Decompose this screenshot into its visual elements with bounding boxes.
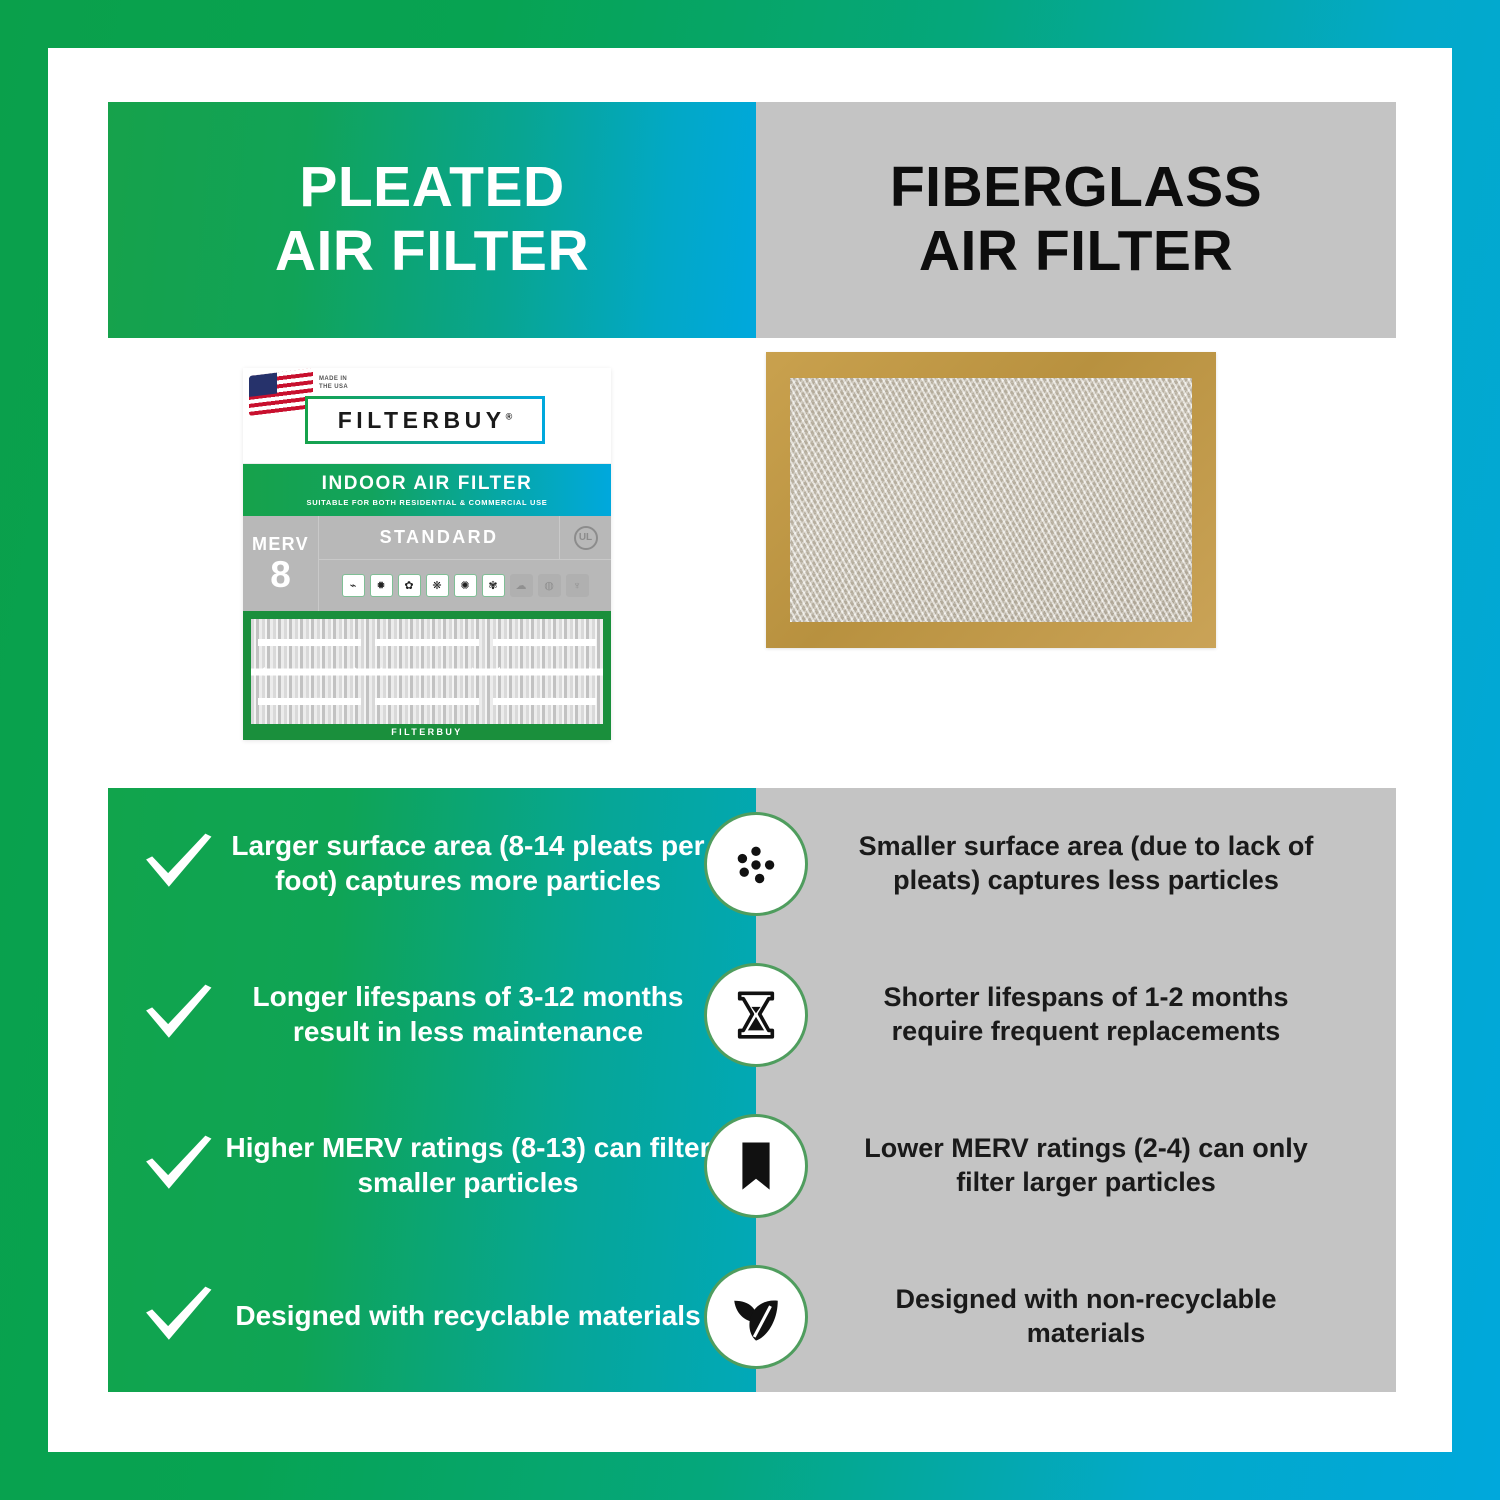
pleat-texture	[251, 619, 603, 724]
row-left-text: Longer lifespans of 3-12 months result i…	[216, 980, 714, 1048]
comparison-row: Designed with recyclable materials Desig…	[108, 1241, 1396, 1392]
pleated-product-cell: MADE IN THE USA FILTERBUY® INDOOR AIR FI…	[108, 338, 756, 768]
white-canvas: PLEATED AIR FILTER FIBERGLASS AIR FILTER	[48, 48, 1452, 1452]
row-left-text: Higher MERV ratings (8-13) can filter sm…	[216, 1131, 714, 1199]
pollen-particles-icon: ✹	[370, 574, 393, 597]
bacteria-icon: ✺	[454, 574, 477, 597]
row-left-text: Larger surface area (8-14 pleats per foo…	[216, 829, 714, 897]
header-pleated-line2: AIR FILTER	[275, 220, 589, 284]
band-sub-label: SUITABLE FOR BOTH RESIDENTIAL & COMMERCI…	[307, 498, 548, 507]
header-row: PLEATED AIR FILTER FIBERGLASS AIR FILTER	[108, 102, 1396, 338]
row-right-text: Shorter lifespans of 1-2 months require …	[834, 981, 1338, 1048]
virus-icon: ◍	[538, 574, 561, 597]
fiberglass-filter-image	[766, 352, 1216, 648]
comparison-row: Longer lifespans of 3-12 months result i…	[108, 939, 1396, 1090]
ul-certification-mark: UL	[559, 516, 611, 559]
row-left-content: Designed with recyclable materials	[108, 1241, 756, 1392]
package-footer-brand: FILTERBUY	[243, 724, 611, 740]
row-left-content: Longer lifespans of 3-12 months result i…	[108, 939, 756, 1090]
merv-label: MERV	[252, 534, 309, 555]
odor-icon: ♆	[566, 574, 589, 597]
pet-dander-icon: ✾	[482, 574, 505, 597]
pleated-media-photo: FILTERBUY	[243, 611, 611, 740]
made-in-line2: THE USA	[319, 383, 348, 391]
checkmark-icon	[140, 1279, 216, 1355]
band-main-label: INDOOR AIR FILTER	[322, 473, 533, 495]
support-wire-grid	[251, 635, 603, 709]
pollen-icon: ✿	[398, 574, 421, 597]
merv-value: 8	[270, 556, 291, 593]
checkmark-icon	[140, 826, 216, 902]
wire-diamond	[368, 635, 485, 709]
gradient-border-frame: PLEATED AIR FILTER FIBERGLASS AIR FILTER	[0, 0, 1500, 1500]
made-in-line1: MADE IN	[319, 375, 348, 383]
filterbuy-logo: FILTERBUY®	[305, 396, 545, 444]
package-spec-panel: MERV 8 STANDARD UL	[243, 516, 611, 611]
indoor-air-filter-band: INDOOR AIR FILTER SUITABLE FOR BOTH RESI…	[243, 464, 611, 516]
comparison-row: Higher MERV ratings (8-13) can filter sm…	[108, 1090, 1396, 1241]
header-pleated-line1: PLEATED	[275, 156, 589, 220]
row-right-content: Lower MERV ratings (2-4) can only filter…	[756, 1090, 1396, 1241]
usa-flag-icon	[249, 368, 313, 416]
bookmark-icon	[704, 1114, 808, 1218]
comparison-row: Larger surface area (8-14 pleats per foo…	[108, 788, 1396, 939]
row-left-content: Larger surface area (8-14 pleats per foo…	[108, 788, 756, 939]
fiberglass-product-cell	[756, 338, 1396, 768]
spec-right-column: STANDARD UL ⌁ ✹ ✿ ❋	[319, 516, 611, 611]
fiberglass-media-texture	[790, 378, 1192, 622]
dust-lint-icon: ⌁	[342, 574, 365, 597]
row-right-text: Smaller surface area (due to lack of ple…	[834, 830, 1338, 897]
row-left-text: Designed with recyclable materials	[216, 1299, 714, 1333]
wire-diamond	[486, 635, 603, 709]
hourglass-icon	[704, 963, 808, 1067]
row-right-text: Designed with non-recyclable materials	[834, 1283, 1338, 1350]
header-fiberglass-line1: FIBERGLASS	[890, 156, 1262, 220]
mold-icon: ❋	[426, 574, 449, 597]
row-left-content: Higher MERV ratings (8-13) can filter sm…	[108, 1090, 756, 1241]
filterbuy-package-image: MADE IN THE USA FILTERBUY® INDOOR AIR FI…	[243, 368, 611, 740]
grade-label: STANDARD	[319, 527, 559, 548]
smoke-icon: ☁	[510, 574, 533, 597]
particles-icon	[704, 812, 808, 916]
row-right-content: Shorter lifespans of 1-2 months require …	[756, 939, 1396, 1090]
grade-row: STANDARD UL	[319, 516, 611, 560]
header-pleated: PLEATED AIR FILTER	[108, 102, 756, 338]
checkmark-icon	[140, 1128, 216, 1204]
leaf-eco-icon	[704, 1265, 808, 1369]
header-fiberglass-title: FIBERGLASS AIR FILTER	[890, 156, 1262, 284]
wire-diamond	[251, 635, 368, 709]
comparison-board: PLEATED AIR FILTER FIBERGLASS AIR FILTER	[108, 102, 1396, 1392]
merv-rating-block: MERV 8	[243, 516, 319, 611]
capability-icon-strip: ⌁ ✹ ✿ ❋ ✺ ✾ ☁ ◍ ♆	[319, 560, 611, 611]
row-right-content: Designed with non-recyclable materials	[756, 1241, 1396, 1392]
product-image-row: MADE IN THE USA FILTERBUY® INDOOR AIR FI…	[108, 338, 1396, 768]
comparison-rows: Larger surface area (8-14 pleats per foo…	[108, 788, 1396, 1392]
header-pleated-title: PLEATED AIR FILTER	[275, 156, 589, 284]
made-in-usa-label: MADE IN THE USA	[319, 375, 348, 391]
filterbuy-logo-text: FILTERBUY®	[338, 407, 512, 434]
checkmark-icon	[140, 977, 216, 1053]
header-fiberglass: FIBERGLASS AIR FILTER	[756, 102, 1396, 338]
comparison-section: Larger surface area (8-14 pleats per foo…	[108, 788, 1396, 1392]
package-header: MADE IN THE USA FILTERBUY®	[243, 368, 611, 464]
ul-icon: UL	[574, 526, 598, 550]
row-right-content: Smaller surface area (due to lack of ple…	[756, 788, 1396, 939]
row-right-text: Lower MERV ratings (2-4) can only filter…	[834, 1132, 1338, 1199]
header-fiberglass-line2: AIR FILTER	[890, 220, 1262, 284]
